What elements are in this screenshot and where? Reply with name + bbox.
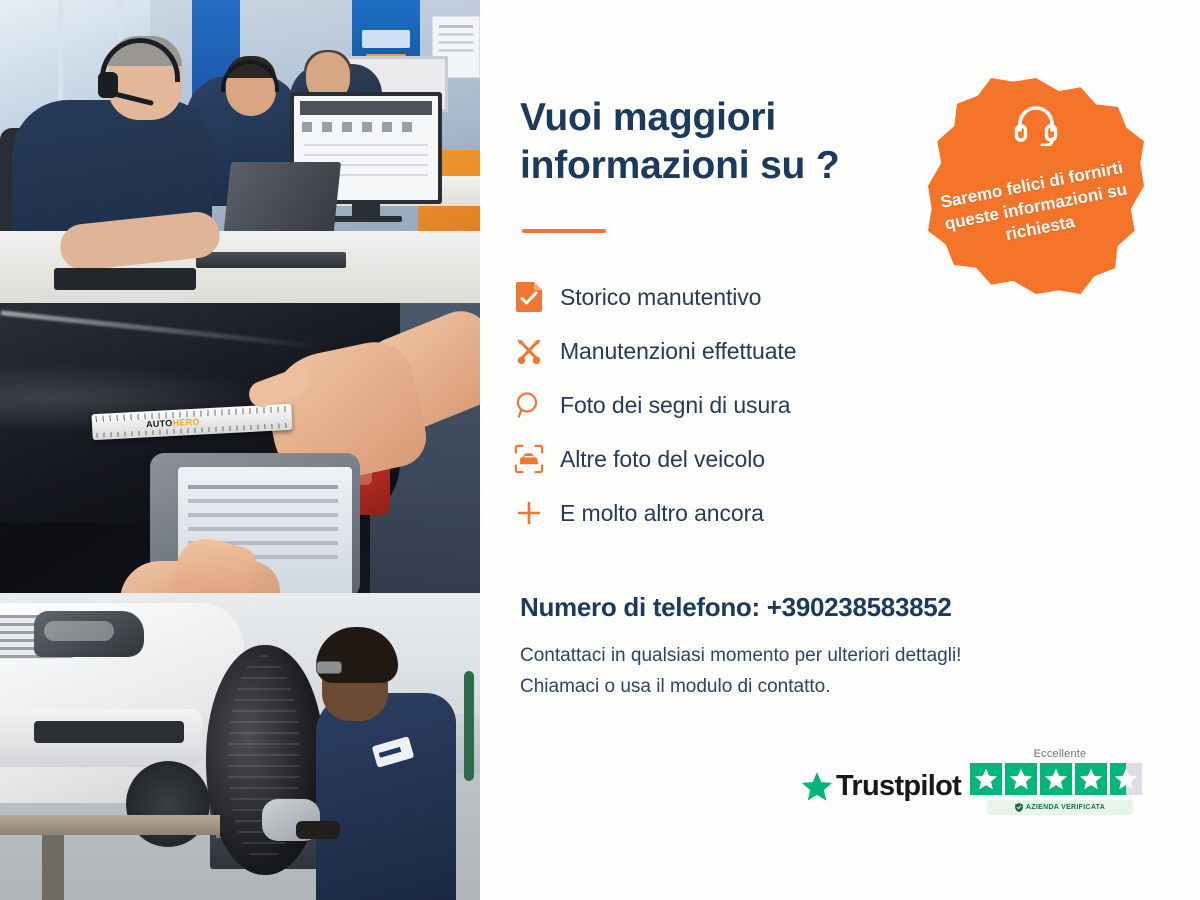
trustpilot-rating-block: Eccellente AZIENDA VERIFICATA [970, 748, 1150, 815]
feature-label: Altre foto del veicolo [560, 446, 765, 473]
promo-page: AUTOHERO [0, 0, 1200, 900]
phone-number-label: Numero di telefono: +390238583852 [520, 592, 952, 623]
photo-column: AUTOHERO [0, 0, 480, 900]
laptop-base [196, 252, 346, 268]
feature-label: E molto altro ancora [560, 500, 764, 527]
trustpilot-stars [970, 763, 1150, 795]
car-lift-platform [0, 815, 220, 835]
feature-item-foto-usura: Foto dei segni di usura [498, 378, 958, 432]
call-center-agents-photo [0, 0, 480, 303]
headset-icon [1014, 104, 1058, 146]
page-title-line-2: informazioni su ? [520, 144, 839, 187]
availability-badge: Saremo felici di fornirti queste informa… [928, 78, 1144, 294]
trustpilot-star-icon [800, 770, 834, 803]
feature-item-storico: Storico manutentivo [498, 270, 958, 324]
content-panel: Vuoi maggioriinformazioni su ? Saremo fe… [480, 0, 1200, 900]
trustpilot-logo: Trustpilot [800, 770, 961, 803]
mechanic-watch [296, 821, 340, 839]
star-5-half [1110, 763, 1142, 795]
contact-text-line-1: Contattaci in qualsiasi momento per ulte… [520, 645, 961, 667]
green-tube [464, 671, 474, 781]
star-1 [970, 763, 1002, 795]
crossed-tools-icon [498, 336, 560, 366]
feature-list: Storico manutentivo Manutenzi [498, 270, 958, 540]
page-title: Vuoi maggioriinformazioni su ? [520, 94, 940, 189]
feature-label: Foto dei segni di usura [560, 392, 790, 419]
contact-text-line-2: Chiamaci o usa il modulo di contatto. [520, 676, 831, 698]
verified-company-badge: AZIENDA VERIFICATA [987, 800, 1133, 815]
star-3 [1040, 763, 1072, 795]
trustpilot-rating-label: Eccellente [970, 748, 1150, 760]
workshop-wheel-photo [0, 593, 480, 900]
mechanic-glasses [316, 661, 342, 674]
feature-item-manutenzioni: Manutenzioni effettuate [498, 324, 958, 378]
star-2 [1005, 763, 1037, 795]
page-title-line-1: Vuoi maggiori [520, 96, 776, 139]
plus-icon [498, 499, 560, 527]
star-4 [1075, 763, 1107, 795]
feature-label: Storico manutentivo [560, 284, 761, 311]
keyboard [54, 268, 196, 290]
monitor-base [330, 216, 402, 222]
car-viewfinder-icon [498, 444, 560, 474]
feature-item-altro: E molto altro ancora [498, 486, 958, 540]
shield-check-icon [1015, 803, 1023, 812]
feature-item-altre-foto: Altre foto del veicolo [498, 432, 958, 486]
mechanic-body [316, 693, 456, 900]
bumper-vent [34, 721, 184, 743]
feature-label: Manutenzioni effettuate [560, 338, 796, 365]
magnifier-icon [498, 391, 560, 419]
title-divider [522, 229, 606, 233]
trustpilot-wordmark: Trustpilot [836, 770, 961, 803]
verified-label: AZIENDA VERIFICATA [1026, 804, 1105, 811]
car-lift-leg [42, 835, 64, 900]
autohero-inspection-photo: AUTOHERO [0, 303, 480, 593]
car-headlight [34, 611, 144, 657]
trustpilot-widget[interactable]: Trustpilot Eccellente AZIENDA VERIFIC [800, 748, 1160, 848]
document-check-icon [498, 282, 560, 312]
